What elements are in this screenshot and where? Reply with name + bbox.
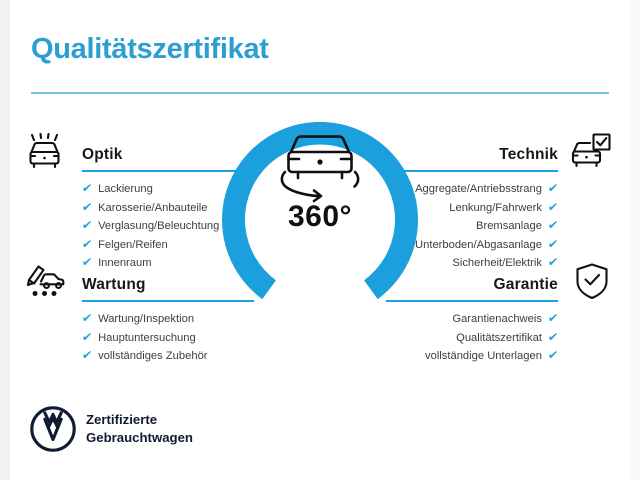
check-icon: ✔ xyxy=(81,236,94,254)
check-icon: ✔ xyxy=(547,347,560,365)
section-garantie-list: Garantienachweis ✔ Qualitätszertifikat ✔… xyxy=(386,310,558,366)
vw-logo-icon xyxy=(30,406,76,452)
check-icon: ✔ xyxy=(81,180,94,198)
list-item: vollständige Unterlagen ✔ xyxy=(386,347,558,366)
list-item-label: Unterboden/Abgasanlage xyxy=(415,237,542,255)
list-item-label: Lackierung xyxy=(98,181,153,199)
page-title: Qualitätszertifikat xyxy=(31,33,269,66)
list-item: ✔ Hauptuntersuchung xyxy=(82,329,254,348)
check-icon: ✔ xyxy=(547,310,560,328)
list-item-label: Wartung/Inspektion xyxy=(98,311,194,329)
car-rotate-icon xyxy=(282,137,358,201)
check-icon: ✔ xyxy=(547,236,560,254)
check-icon: ✔ xyxy=(81,217,94,235)
check-icon: ✔ xyxy=(547,180,560,198)
list-item-label: Bremsanlage xyxy=(476,218,542,236)
check-icon: ✔ xyxy=(547,217,560,235)
check-icon: ✔ xyxy=(81,329,94,347)
car-checkbox-icon xyxy=(566,133,612,173)
check-icon: ✔ xyxy=(547,254,560,272)
vw-footer-text: Zertifizierte Gebrauchtwagen xyxy=(86,411,193,447)
section-wartung-list: ✔ Wartung/Inspektion ✔ Hauptuntersuchung… xyxy=(82,310,254,366)
list-item-label: Qualitätszertifikat xyxy=(456,330,542,348)
list-item-label: Garantienachweis xyxy=(452,311,542,329)
list-item-label: Innenraum xyxy=(98,255,152,273)
badge-center-label: 360° xyxy=(222,200,418,234)
list-item-label: Hauptuntersuchung xyxy=(98,330,196,348)
list-item-label: Lenkung/Fahrwerk xyxy=(449,200,542,218)
letterbox-edge-left xyxy=(0,0,10,480)
list-item-label: Aggregate/Antriebsstrang xyxy=(415,181,542,199)
check-icon: ✔ xyxy=(81,199,94,217)
list-item-label: vollständiges Zubehör xyxy=(98,348,207,366)
vw-footer-line2: Gebrauchtwagen xyxy=(86,429,193,447)
check-icon: ✔ xyxy=(547,199,560,217)
section-wartung-title: Wartung xyxy=(82,276,146,294)
qualitaetszertifikat-page: Qualitätszertifikat Optik ✔ Lackierung xyxy=(0,0,640,480)
list-item-label: Verglasung/Beleuchtung xyxy=(98,218,219,236)
list-item-label: Sicherheit/Elektrik xyxy=(452,255,542,273)
list-item: Qualitätszertifikat ✔ xyxy=(386,329,558,348)
check-icon: ✔ xyxy=(547,329,560,347)
badge-360-gebrauchtwagen-check: Gebrauchtwagen-Check 360° xyxy=(222,122,418,318)
title-divider xyxy=(31,92,609,94)
section-garantie-title: Garantie xyxy=(494,276,559,294)
service-book-car-icon xyxy=(24,262,70,302)
list-item-label: vollständige Unterlagen xyxy=(425,348,542,366)
letterbox-edge-right xyxy=(630,0,640,480)
section-optik-title: Optik xyxy=(82,146,123,164)
list-item-label: Felgen/Reifen xyxy=(98,237,168,255)
vw-footer-line1: Zertifizierte xyxy=(86,411,193,429)
check-icon: ✔ xyxy=(81,254,94,272)
check-icon: ✔ xyxy=(81,347,94,365)
shield-check-icon xyxy=(570,262,616,302)
list-item-label: Karosserie/Anbauteile xyxy=(98,200,207,218)
list-item: ✔ vollständiges Zubehör xyxy=(82,347,254,366)
section-technik-title: Technik xyxy=(499,146,558,164)
car-shine-icon xyxy=(24,133,70,173)
check-icon: ✔ xyxy=(81,310,94,328)
